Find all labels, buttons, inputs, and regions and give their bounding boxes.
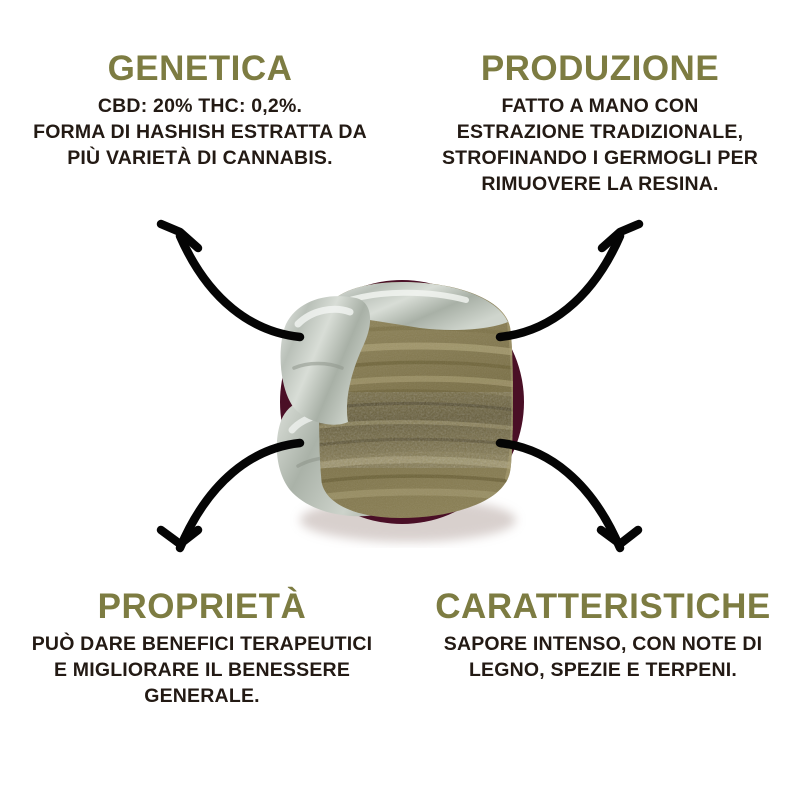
body-line: LEGNO, SPEZIE E TERPENI. [469, 659, 737, 681]
body-proprieta: PUÒ DARE BENEFICI TERAPEUTICI E MIGLIORA… [4, 632, 400, 710]
heading-caratteristiche: CARATTERISTICHE [412, 588, 794, 626]
body-line: SAPORE INTENSO, CON NOTE DI [444, 633, 763, 655]
infographic-page: GENETICA CBD: 20% THC: 0,2%. FORMA DI HA… [0, 0, 800, 800]
body-line: CBD: 20% THC: 0,2%. [98, 95, 302, 117]
body-line: ESTRAZIONE TRADIZIONALE, [457, 121, 743, 143]
quadrant-proprieta: PROPRIETÀ PUÒ DARE BENEFICI TERAPEUTICI … [4, 588, 400, 710]
heading-produzione: PRODUZIONE [410, 50, 790, 88]
hashish-product-image [252, 252, 548, 548]
heading-proprieta: PROPRIETÀ [4, 588, 400, 626]
body-line: FORMA DI HASHISH ESTRATTA DA [33, 121, 367, 143]
heading-genetica: GENETICA [0, 50, 400, 88]
quadrant-genetica: GENETICA CBD: 20% THC: 0,2%. FORMA DI HA… [0, 50, 400, 172]
body-line: FATTO A MANO CON [501, 95, 698, 117]
quadrant-caratteristiche: CARATTERISTICHE SAPORE INTENSO, CON NOTE… [412, 588, 794, 684]
quadrant-produzione: PRODUZIONE FATTO A MANO CON ESTRAZIONE T… [410, 50, 790, 197]
body-line: GENERALE. [144, 685, 260, 707]
body-line: PUÒ DARE BENEFICI TERAPEUTICI [32, 633, 373, 655]
body-line: PIÙ VARIETÀ DI CANNABIS. [67, 147, 333, 169]
body-line: RIMUOVERE LA RESINA. [481, 173, 718, 195]
body-line: E MIGLIORARE IL BENESSERE [54, 659, 350, 681]
body-produzione: FATTO A MANO CON ESTRAZIONE TRADIZIONALE… [410, 94, 790, 198]
body-genetica: CBD: 20% THC: 0,2%. FORMA DI HASHISH EST… [0, 94, 400, 172]
body-line: STROFINANDO I GERMOGLI PER [442, 147, 758, 169]
body-caratteristiche: SAPORE INTENSO, CON NOTE DI LEGNO, SPEZI… [412, 632, 794, 684]
